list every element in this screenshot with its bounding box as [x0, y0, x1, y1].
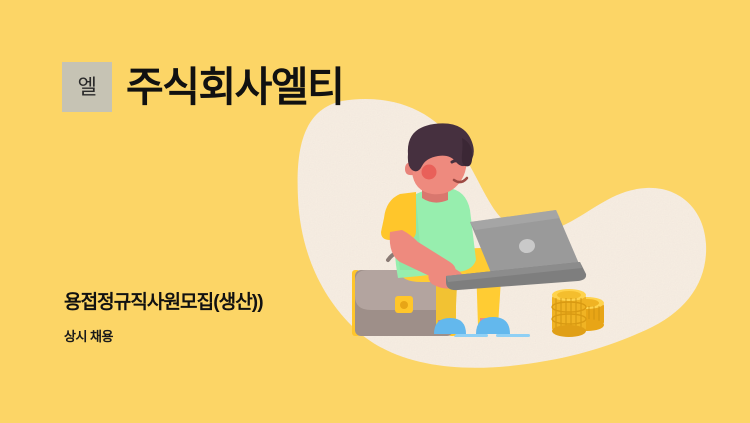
brand-header: 엘 주식회사엘티	[62, 62, 343, 112]
company-name: 주식회사엘티	[126, 67, 343, 108]
job-posting-banner: 엘 주식회사엘티	[0, 0, 750, 423]
posting-text-block: 용접정규직사원모집(생산)) 상시 채용	[64, 292, 263, 344]
coin-stack-graphic	[548, 275, 608, 340]
job-title: 용접정규직사원모집(생산))	[64, 292, 263, 315]
company-logo: 엘	[62, 62, 112, 112]
company-logo-text: 엘	[78, 77, 97, 98]
recruitment-type: 상시 채용	[64, 329, 263, 345]
